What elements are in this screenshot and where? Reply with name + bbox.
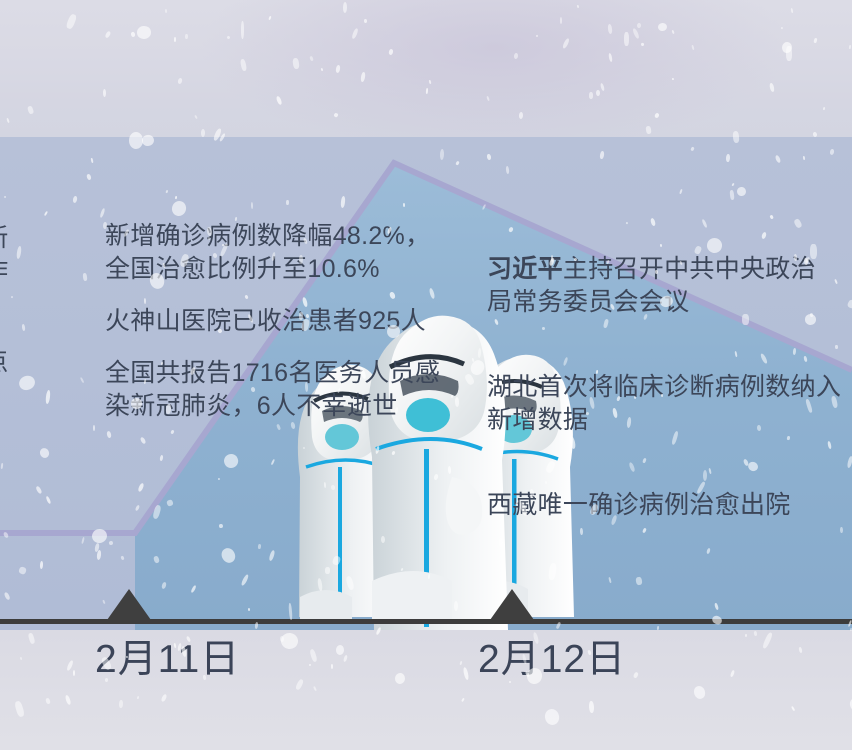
sky-background (0, 0, 852, 137)
timeline-marker-triangle (107, 589, 151, 620)
feb12-item-body: 西藏唯一确诊病例治愈出院 (487, 491, 791, 519)
feb11-item: 全国共报告1716名医务人员感 染新冠肺炎，6人不幸逝世 (105, 357, 450, 423)
timeline-date-label: 2月12日 (478, 638, 626, 682)
feb12-item: 湖北首次将临床诊断病例数纳入 新增数据 (487, 338, 845, 437)
feb12-item-emphasis: 习近平 (487, 255, 563, 283)
left-clipped-text-column: 导新 工作 重点 (0, 222, 108, 379)
left-clipped-line: 重点 (0, 346, 108, 379)
feb12-item: 习近平主持召开中共中央政治 局常务委员会会议 (487, 220, 845, 319)
infographic-canvas: 2月11日 2月12日 导新 工作 重点 新增确诊病例数降幅48.2%， 全国治… (0, 0, 852, 750)
feb11-item: 火神山医院已收治患者925人 (105, 305, 450, 338)
timeline-date-label: 2月11日 (95, 638, 240, 682)
feb11-text-column: 新增确诊病例数降幅48.2%， 全国治愈比例升至10.6% 火神山医院已收治患者… (105, 220, 450, 423)
feb11-item: 新增确诊病例数降幅48.2%， 全国治愈比例升至10.6% (105, 220, 450, 286)
feb12-item: 西藏唯一确诊病例治愈出院 (487, 456, 845, 522)
feb12-item-body: 湖北首次将临床诊断病例数纳入 新增数据 (487, 373, 841, 434)
left-clipped-line: 导新 工作 (0, 222, 108, 288)
feb12-text-column: 习近平主持召开中共中央政治 局常务委员会会议 湖北首次将临床诊断病例数纳入 新增… (487, 220, 845, 522)
timeline-marker-triangle (490, 589, 534, 620)
